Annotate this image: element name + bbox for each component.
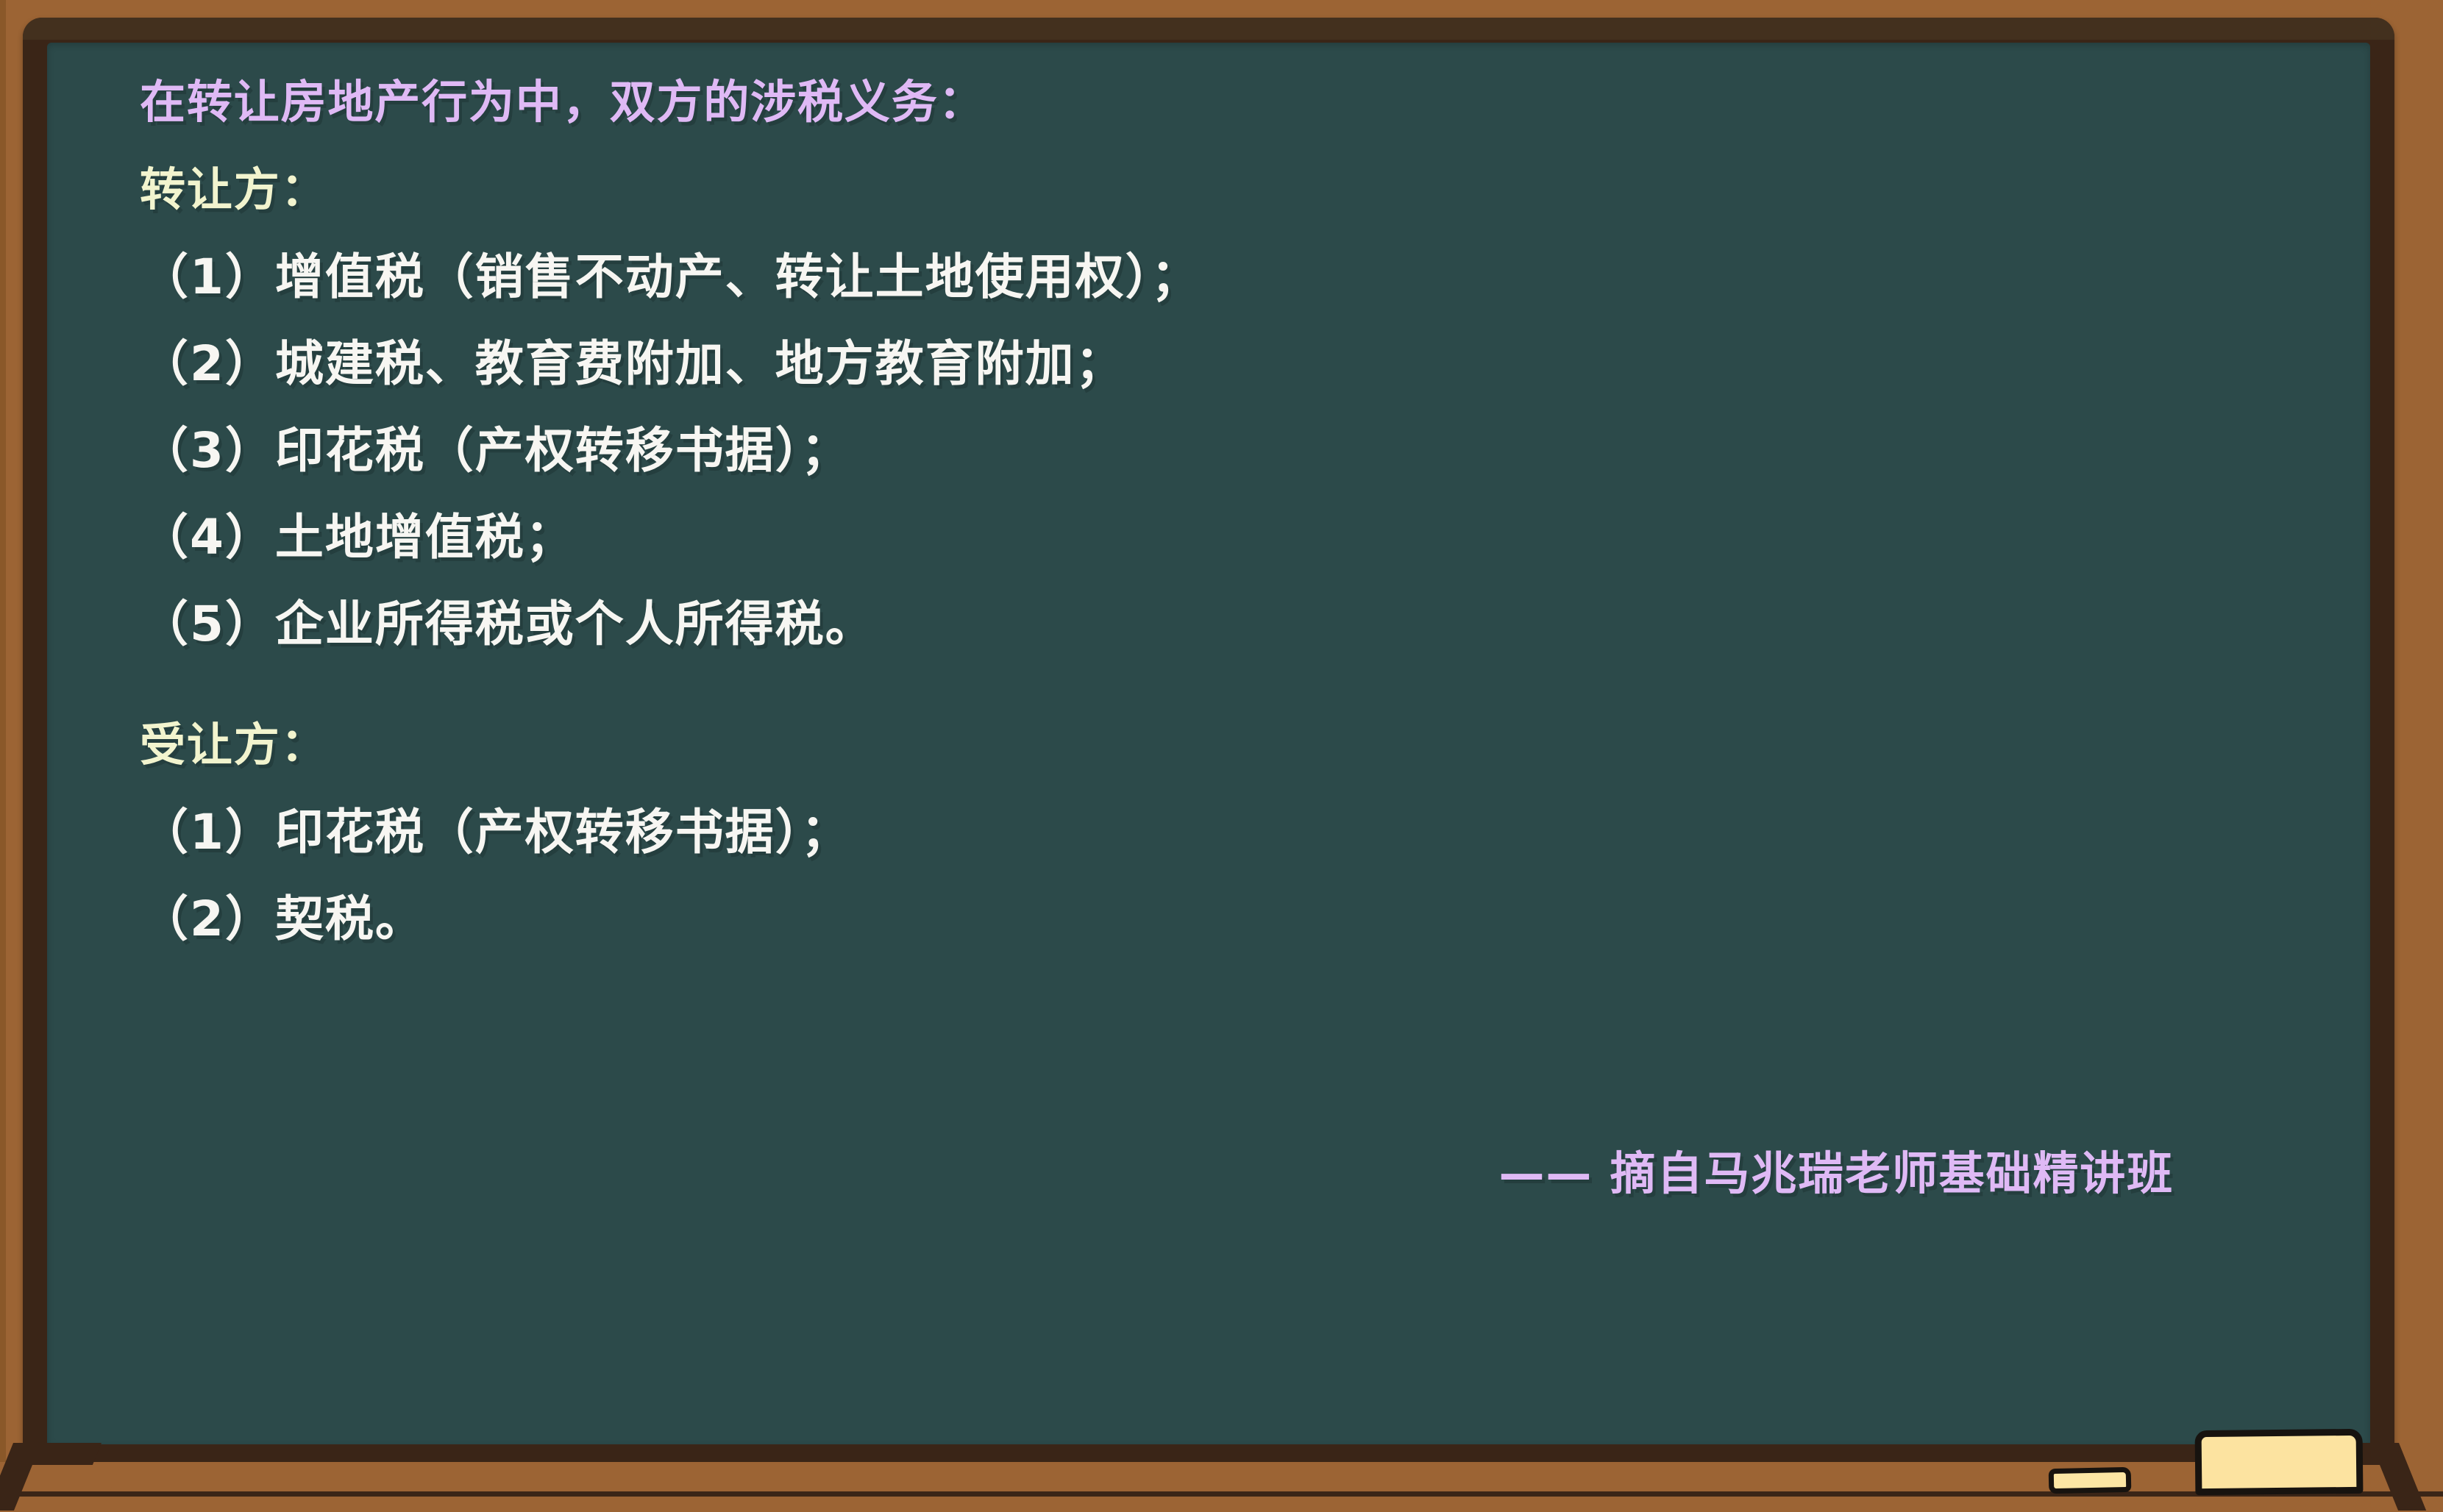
section-spacer [140,649,2273,722]
chalk-stick-icon[interactable] [2049,1467,2132,1494]
transferor-item-5: （5）企业所得税或个人所得税。 [140,600,2273,649]
transferor-item-3: （3）印花税（产权转移书据）； [140,427,2273,475]
board-eraser-icon[interactable] [2195,1429,2364,1495]
transferee-item-1: （1）印花税（产权转移书据）； [140,808,2273,857]
section-heading-transferee: 受让方： [140,722,2273,768]
board-text-content: 在转让房地产行为中，双方的涉税义务： 转让方： （1）增值税（销售不动产、转让土… [140,79,2273,944]
slide-title: 在转让房地产行为中，双方的涉税义务： [140,79,2273,125]
transferor-item-4: （4）土地增值税； [140,513,2273,562]
frame-top-bevel [23,18,2394,40]
attribution-text: —— 摘自马兆瑞老师基础精讲班 [1499,1136,2174,1202]
wood-wall-shade [0,0,6,1511]
attribution-row: —— 摘自马兆瑞老师基础精讲班 [140,1136,2273,1202]
transferor-item-2: （2）城建税、教育费附加、地方教育附加； [140,340,2273,388]
transferee-item-2: （2）契税。 [140,895,2273,944]
transferor-item-1: （1）增值税（销售不动产、转让土地使用权）； [140,253,2273,302]
section-heading-transferor: 转让方： [140,167,2273,213]
blackboard-scene: 在转让房地产行为中，双方的涉税义务： 转让方： （1）增值税（销售不动产、转让土… [0,0,2443,1511]
